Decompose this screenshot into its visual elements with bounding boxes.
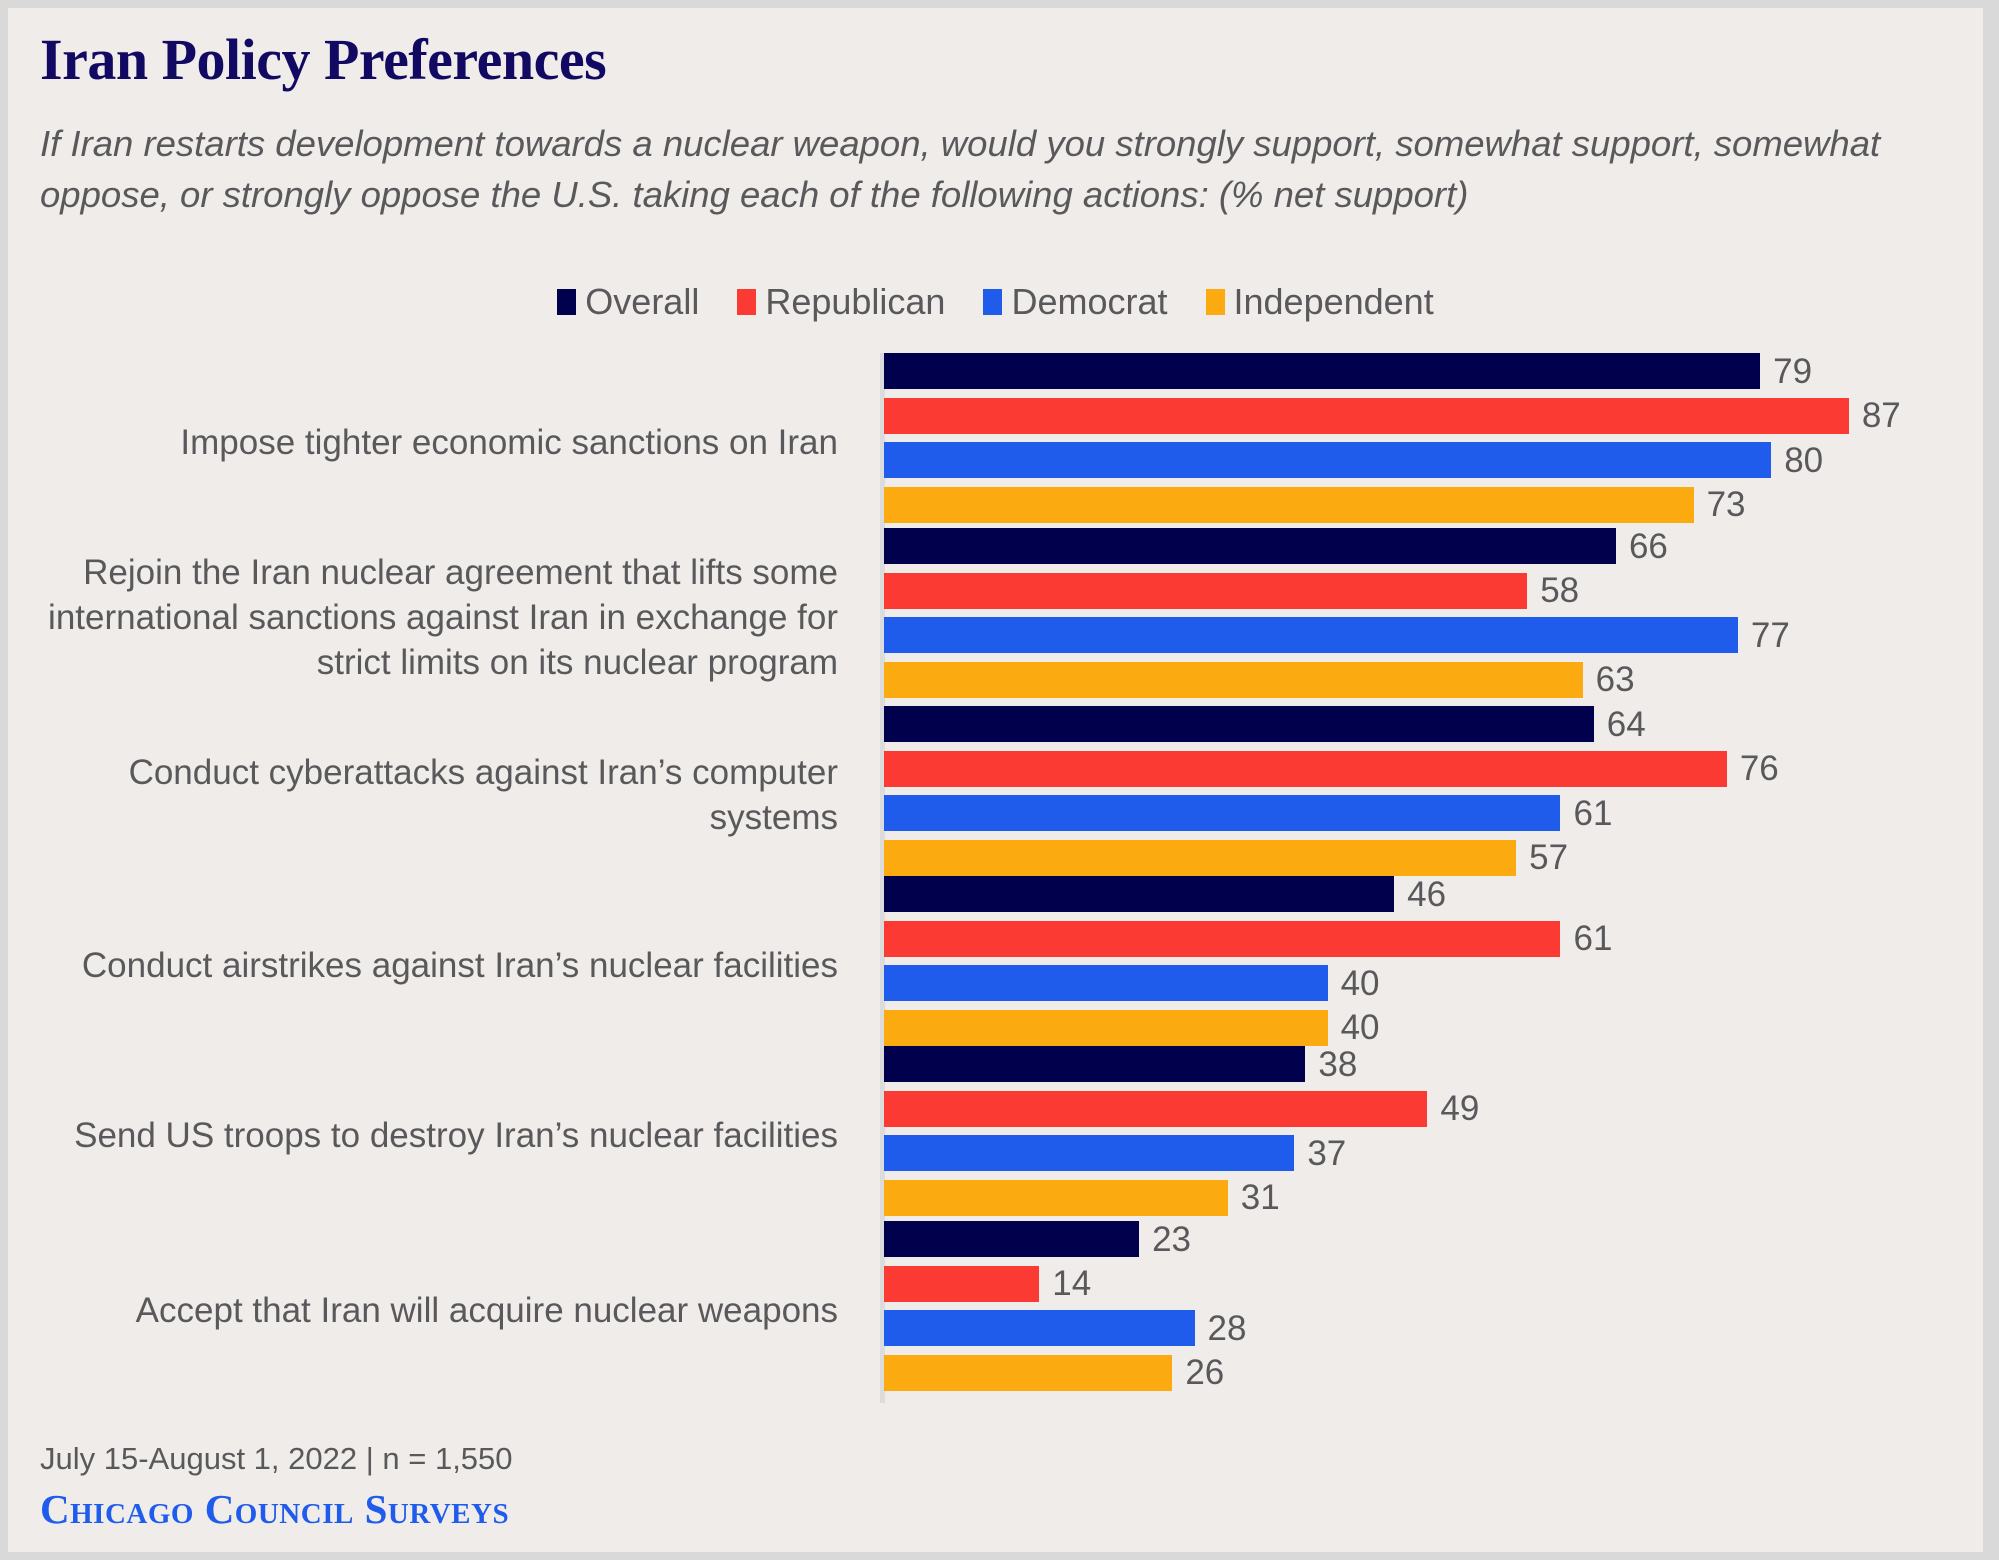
bar-republican[interactable] — [884, 398, 1849, 434]
bar-value-label: 26 — [1185, 1355, 1224, 1390]
bar-democrat[interactable] — [884, 617, 1738, 653]
legend-swatch-icon — [557, 289, 576, 315]
bar-overall[interactable] — [884, 876, 1394, 912]
bar-stack: 64766157 — [884, 706, 1974, 884]
bar-independent[interactable] — [884, 1180, 1228, 1216]
bar-row[interactable]: 66 — [884, 528, 1974, 564]
bar-democrat[interactable] — [884, 965, 1328, 1001]
bar-row[interactable]: 87 — [884, 398, 1974, 434]
legend-label: Independent — [1234, 284, 1434, 320]
category-label: Rejoin the Iran nuclear agreement that l… — [8, 550, 838, 685]
chart-subtitle: If Iran restarts development towards a n… — [40, 118, 1960, 220]
category-label: Impose tighter economic sanctions on Ira… — [8, 420, 838, 465]
bar-overall[interactable] — [884, 528, 1616, 564]
bar-independent[interactable] — [884, 1010, 1328, 1046]
bar-value-label: 38 — [1318, 1047, 1357, 1082]
bar-value-label: 77 — [1751, 618, 1790, 653]
page-title: Iran Policy Preferences — [40, 26, 606, 93]
legend-swatch-icon — [737, 289, 756, 315]
bar-democrat[interactable] — [884, 1135, 1294, 1171]
bar-value-label: 40 — [1341, 1010, 1380, 1045]
bar-republican[interactable] — [884, 573, 1527, 609]
bar-group: Accept that Iran will acquire nuclear we… — [8, 1221, 1983, 1399]
bar-row[interactable]: 40 — [884, 1010, 1974, 1046]
plot-area: Impose tighter economic sanctions on Ira… — [8, 346, 1983, 1408]
legend-item-republican[interactable]: Republican — [737, 284, 945, 320]
bar-row[interactable]: 63 — [884, 662, 1974, 698]
bar-row[interactable]: 40 — [884, 965, 1974, 1001]
bar-value-label: 61 — [1573, 796, 1612, 831]
bar-value-label: 46 — [1407, 877, 1446, 912]
bar-row[interactable]: 37 — [884, 1135, 1974, 1171]
bar-row[interactable]: 26 — [884, 1355, 1974, 1391]
bar-value-label: 66 — [1629, 529, 1668, 564]
bar-row[interactable]: 80 — [884, 442, 1974, 478]
bar-group: Impose tighter economic sanctions on Ira… — [8, 353, 1983, 531]
legend-label: Republican — [765, 284, 945, 320]
legend-label: Democrat — [1011, 284, 1167, 320]
bar-value-label: 49 — [1440, 1091, 1479, 1126]
bar-value-label: 37 — [1307, 1136, 1346, 1171]
bar-row[interactable]: 38 — [884, 1046, 1974, 1082]
bar-republican[interactable] — [884, 921, 1560, 957]
brand-label: Chicago Council Surveys — [40, 1485, 513, 1533]
bar-row[interactable]: 61 — [884, 921, 1974, 957]
source-note: July 15-August 1, 2022 | n = 1,550 — [40, 1440, 513, 1479]
bar-democrat[interactable] — [884, 795, 1560, 831]
bar-independent[interactable] — [884, 662, 1583, 698]
chart-legend: OverallRepublicanDemocratIndependent — [8, 284, 1983, 320]
bar-value-label: 31 — [1241, 1180, 1280, 1215]
bar-row[interactable]: 57 — [884, 840, 1974, 876]
bar-row[interactable]: 46 — [884, 876, 1974, 912]
bar-group: Conduct airstrikes against Iran’s nuclea… — [8, 876, 1983, 1054]
bar-democrat[interactable] — [884, 1310, 1195, 1346]
bar-group: Rejoin the Iran nuclear agreement that l… — [8, 528, 1983, 706]
bar-row[interactable]: 79 — [884, 353, 1974, 389]
bar-value-label: 28 — [1208, 1311, 1247, 1346]
bar-row[interactable]: 61 — [884, 795, 1974, 831]
bar-stack: 79878073 — [884, 353, 1974, 531]
legend-label: Overall — [585, 284, 699, 320]
bar-value-label: 79 — [1773, 354, 1812, 389]
bar-value-label: 57 — [1529, 840, 1568, 875]
bar-group: Send US troops to destroy Iran’s nuclear… — [8, 1046, 1983, 1224]
bar-republican[interactable] — [884, 1266, 1039, 1302]
chart-figure: Iran Policy Preferences If Iran restarts… — [8, 8, 1983, 1552]
bar-row[interactable]: 23 — [884, 1221, 1974, 1257]
legend-item-independent[interactable]: Independent — [1206, 284, 1434, 320]
bar-republican[interactable] — [884, 751, 1727, 787]
bar-row[interactable]: 76 — [884, 751, 1974, 787]
bar-independent[interactable] — [884, 840, 1516, 876]
bar-stack: 46614040 — [884, 876, 1974, 1054]
bar-value-label: 63 — [1596, 662, 1635, 697]
bar-row[interactable]: 31 — [884, 1180, 1974, 1216]
legend-swatch-icon — [983, 289, 1002, 315]
bar-row[interactable]: 64 — [884, 706, 1974, 742]
bar-row[interactable]: 58 — [884, 573, 1974, 609]
bar-independent[interactable] — [884, 1355, 1172, 1391]
bar-value-label: 40 — [1341, 966, 1380, 1001]
bar-row[interactable]: 49 — [884, 1091, 1974, 1127]
bar-overall[interactable] — [884, 1046, 1305, 1082]
bar-row[interactable]: 73 — [884, 487, 1974, 523]
category-label: Send US troops to destroy Iran’s nuclear… — [8, 1113, 838, 1158]
bar-overall[interactable] — [884, 353, 1760, 389]
bar-value-label: 64 — [1607, 707, 1646, 742]
bar-value-label: 76 — [1740, 751, 1779, 786]
bar-overall[interactable] — [884, 1221, 1139, 1257]
bar-row[interactable]: 77 — [884, 617, 1974, 653]
bar-independent[interactable] — [884, 487, 1694, 523]
bar-value-label: 87 — [1862, 398, 1901, 433]
bar-group: Conduct cyberattacks against Iran’s comp… — [8, 706, 1983, 884]
bar-value-label: 61 — [1573, 921, 1612, 956]
bar-value-label: 73 — [1707, 487, 1746, 522]
bar-value-label: 80 — [1784, 443, 1823, 478]
bar-row[interactable]: 14 — [884, 1266, 1974, 1302]
bar-republican[interactable] — [884, 1091, 1427, 1127]
category-label: Conduct airstrikes against Iran’s nuclea… — [8, 943, 838, 988]
bar-stack: 38493731 — [884, 1046, 1974, 1224]
bar-overall[interactable] — [884, 706, 1594, 742]
category-label: Accept that Iran will acquire nuclear we… — [8, 1288, 838, 1333]
legend-item-overall[interactable]: Overall — [557, 284, 699, 320]
bar-democrat[interactable] — [884, 442, 1771, 478]
legend-swatch-icon — [1206, 289, 1225, 315]
chart-footer: July 15-August 1, 2022 | n = 1,550 Chica… — [40, 1440, 513, 1533]
bar-value-label: 23 — [1152, 1222, 1191, 1257]
bar-stack: 23142826 — [884, 1221, 1974, 1399]
bar-stack: 66587763 — [884, 528, 1974, 706]
legend-item-democrat[interactable]: Democrat — [983, 284, 1167, 320]
bar-value-label: 14 — [1052, 1266, 1091, 1301]
bar-value-label: 58 — [1540, 573, 1579, 608]
category-label: Conduct cyberattacks against Iran’s comp… — [8, 750, 838, 840]
bar-row[interactable]: 28 — [884, 1310, 1974, 1346]
